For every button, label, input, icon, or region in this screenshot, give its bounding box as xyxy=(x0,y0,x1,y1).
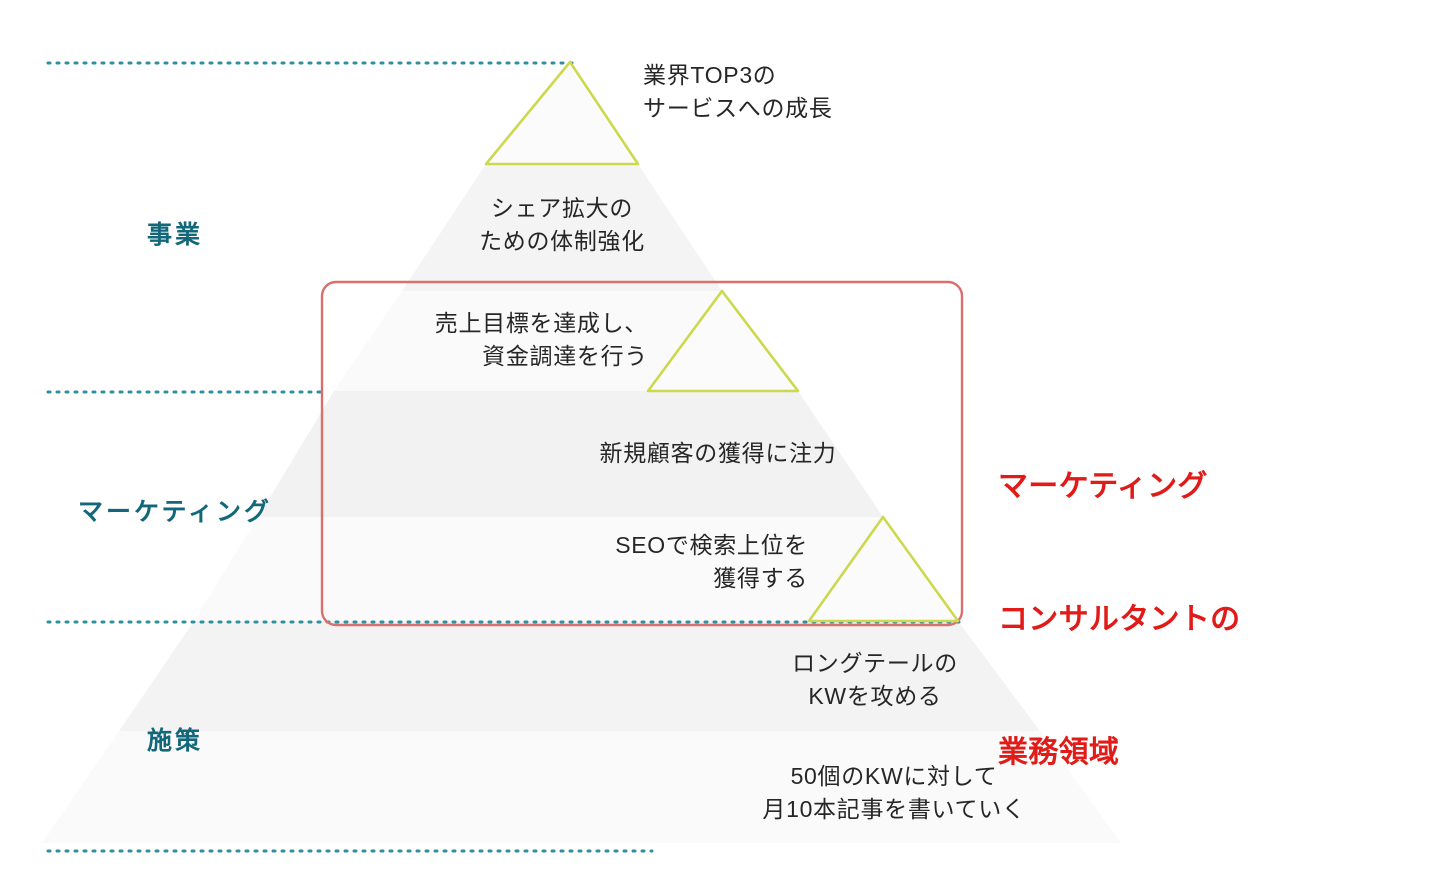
marketing-scope-label-line-1: マーケティング xyxy=(998,465,1240,509)
band-caption-5: ロングテールの KWを攻める xyxy=(792,647,958,712)
pyramid-background xyxy=(42,62,1121,843)
band-caption-2: 売上目標を達成し、 資金調達を行う xyxy=(435,307,648,372)
marketing-scope-label-line-2: コンサルタントの xyxy=(998,598,1240,642)
band-caption-4: SEOで検索上位を 獲得する xyxy=(615,529,808,594)
axis-label-marketing: マーケティング xyxy=(78,495,272,531)
marketing-scope-label-line-3: 業務領域 xyxy=(998,731,1240,775)
triangle-top[interactable] xyxy=(486,62,638,164)
band-caption-1: シェア拡大の ための体制強化 xyxy=(479,192,645,257)
band-caption-6: 50個のKWに対して 月10本記事を書いていく xyxy=(762,760,1025,825)
marketing-scope-label: マーケティング コンサルタントの 業務領域 xyxy=(998,376,1240,864)
axis-label-business: 事業 xyxy=(147,218,203,254)
diagram-canvas: 事業 マーケティング 施策 業界TOP3の サービスへの成長 シェア拡大の ため… xyxy=(0,0,1440,891)
triangle-top-label: 業界TOP3の サービスへの成長 xyxy=(643,59,833,124)
band-caption-3: 新規顧客の獲得に注力 xyxy=(600,437,837,470)
axis-label-measures: 施策 xyxy=(147,724,203,760)
